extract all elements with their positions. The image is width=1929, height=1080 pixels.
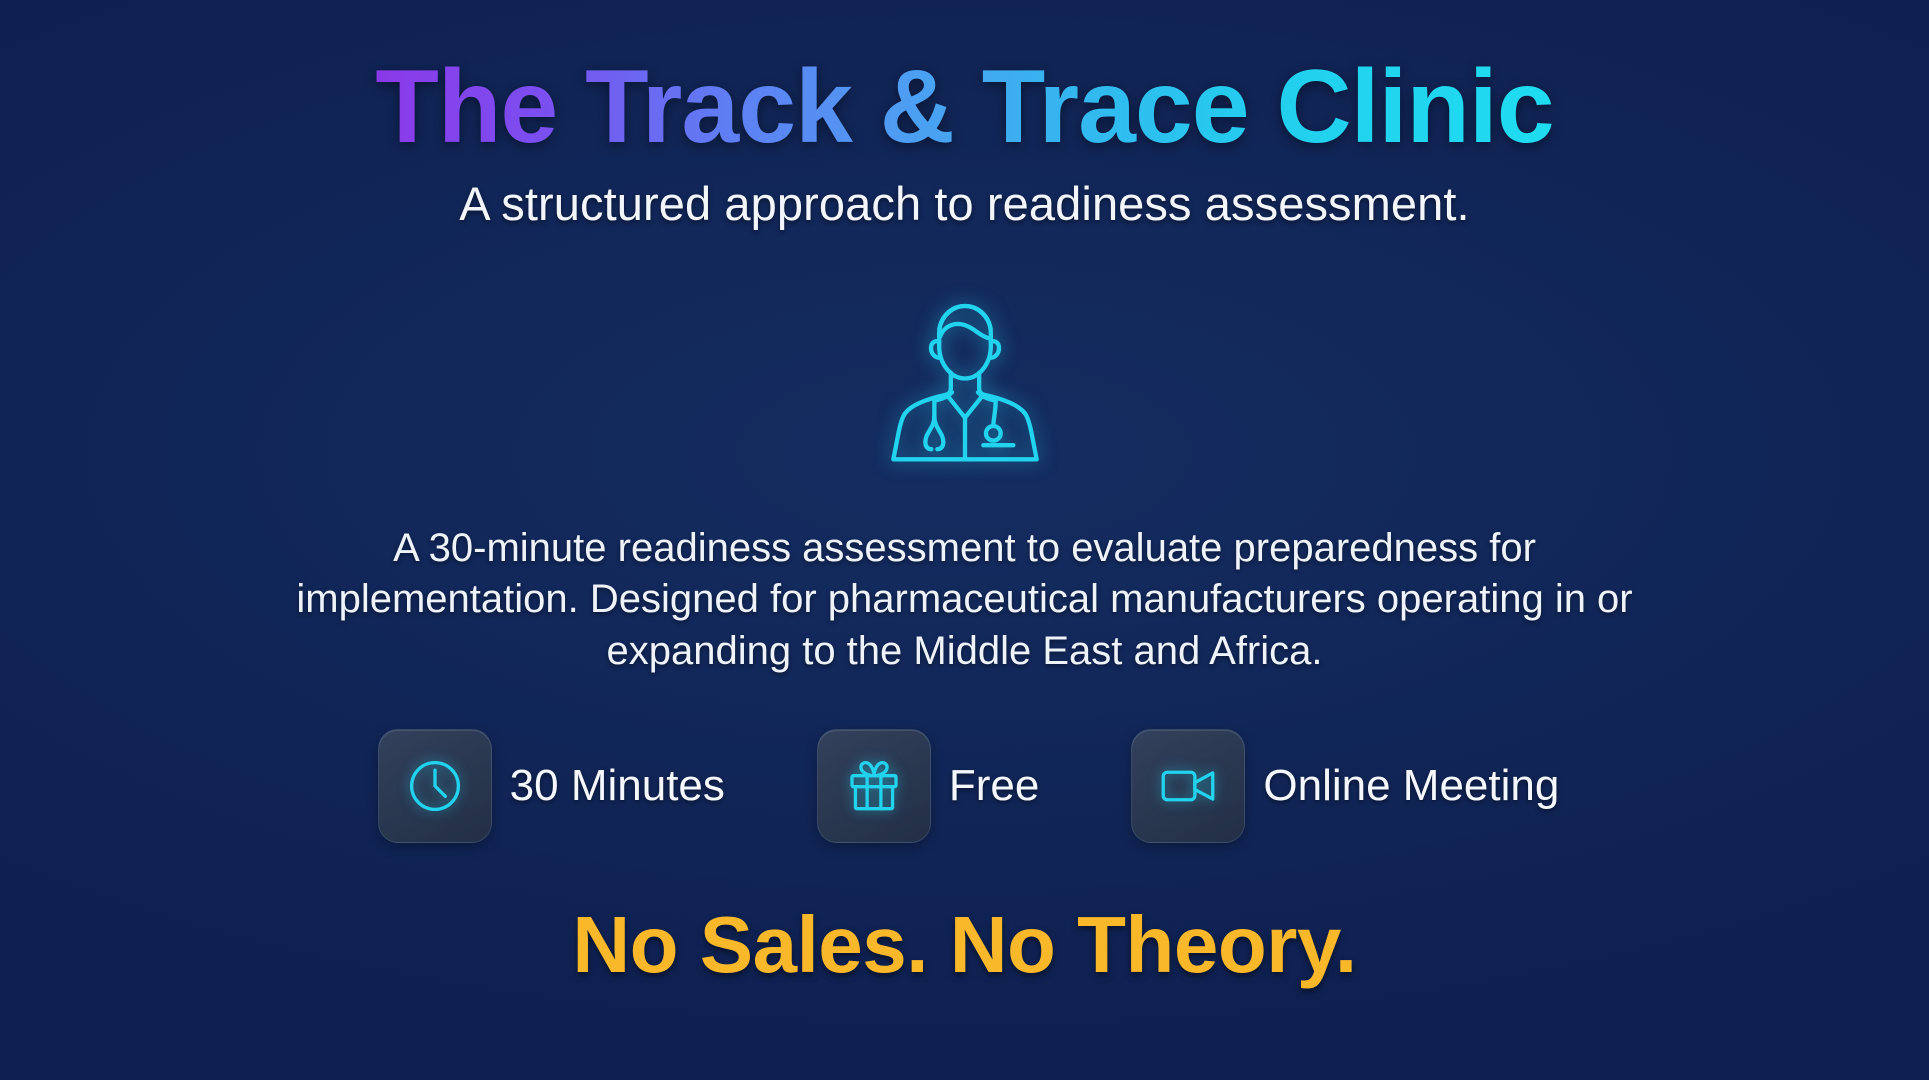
clock-icon [378, 729, 492, 843]
feature-badge-free[interactable]: Free [817, 729, 1039, 843]
page-subtitle: A structured approach to readiness asses… [459, 176, 1469, 231]
feature-badge-online-meeting[interactable]: Online Meeting [1131, 729, 1559, 843]
feature-label: Free [949, 761, 1039, 811]
video-camera-icon-svg [1155, 753, 1221, 819]
page-title: The Track & Trace Clinic [375, 52, 1553, 162]
gift-icon [817, 729, 931, 843]
gift-icon-svg [841, 753, 907, 819]
tagline: No Sales. No Theory. [572, 899, 1356, 991]
doctor-icon [865, 281, 1065, 481]
slide-canvas: The Track & Trace Clinic A structured ap… [0, 0, 1929, 1080]
feature-badge-row: 30 Minutes Free Online Me [285, 729, 1645, 843]
feature-label: 30 Minutes [510, 761, 725, 811]
doctor-icon-svg [865, 281, 1065, 481]
video-camera-icon [1131, 729, 1245, 843]
feature-badge-30-minutes[interactable]: 30 Minutes [378, 729, 725, 843]
feature-label: Online Meeting [1263, 761, 1559, 811]
clock-icon-svg [402, 753, 468, 819]
body-paragraph: A 30-minute readiness assessment to eval… [285, 523, 1645, 677]
